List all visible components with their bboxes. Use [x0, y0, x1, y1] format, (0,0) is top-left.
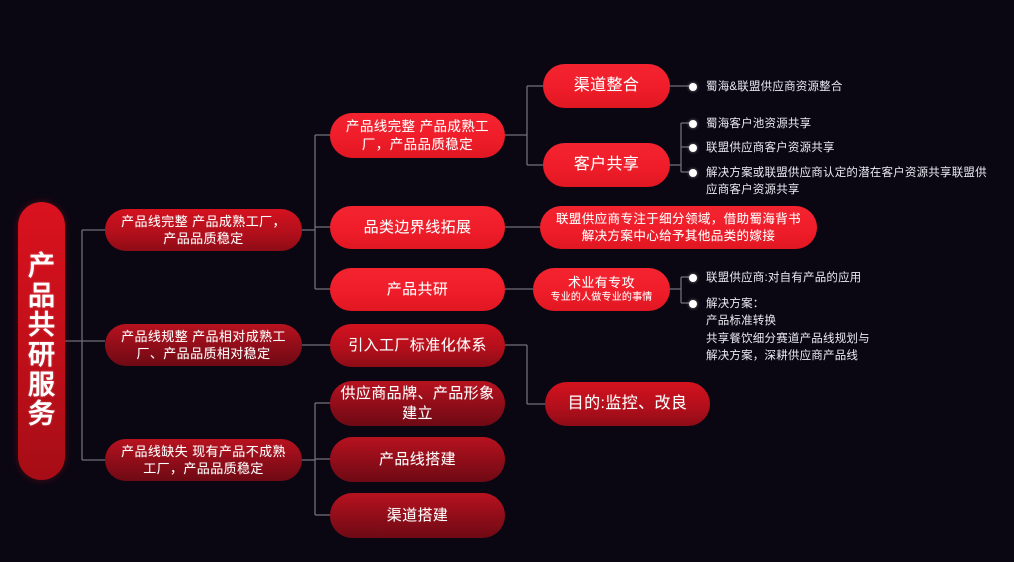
node-level1-2-label: 产品线缺失 现有产品不成熟工厂，产品品质稳定: [115, 443, 292, 477]
bullet-text: 联盟供应商客户资源共享: [706, 140, 835, 157]
bullet-specialization-0: 联盟供应商:对自有产品的应用: [689, 270, 1009, 287]
root-char-3: 研: [28, 342, 55, 370]
node-level1-2[interactable]: 产品线缺失 现有产品不成熟工厂，产品品质稳定: [105, 439, 302, 481]
node-level3-purpose[interactable]: 目的:监控、改良: [545, 382, 710, 426]
node-level2-2[interactable]: 产品共研: [330, 268, 505, 311]
node-level2-4-label: 供应商品牌、产品形象建立: [340, 384, 495, 424]
node-level3-4-label: 目的:监控、改良: [555, 393, 700, 414]
bullet-text: 蜀海&联盟供应商资源整合: [706, 79, 843, 96]
mindmap-canvas: 产 品 共 研 服 务 产品线完整 产品成熟工厂，产品品质稳定 产品线规整 产品…: [0, 0, 1014, 562]
node-level2-1-label: 品类边界线拓展: [340, 218, 495, 238]
root-title[interactable]: 产 品 共 研 服 务: [18, 202, 65, 480]
bullet-text: 联盟供应商:对自有产品的应用: [706, 270, 862, 287]
root-char-5: 务: [28, 401, 55, 429]
node-level2-6[interactable]: 渠道搭建: [330, 493, 505, 538]
node-level2-3[interactable]: 引入工厂标准化体系: [330, 324, 505, 367]
node-level3-3-label: 术业有专攻: [543, 274, 660, 291]
root-char-0: 产: [28, 253, 55, 281]
root-char-1: 品: [28, 283, 55, 311]
node-level2-5[interactable]: 产品线搭建: [330, 437, 505, 482]
node-level1-0-label: 产品线完整 产品成熟工厂，产品品质稳定: [115, 213, 292, 247]
bullet-dot-icon: [689, 144, 697, 152]
root-char-4: 服: [28, 372, 55, 400]
node-level1-0[interactable]: 产品线完整 产品成熟工厂，产品品质稳定: [105, 209, 302, 251]
bullet-customer-share-1: 联盟供应商客户资源共享: [689, 140, 1009, 157]
node-level3-3-sublabel: 专业的人做专业的事情: [543, 291, 660, 304]
bullet-text: 蜀海客户池资源共享: [706, 116, 811, 133]
node-level3-1-label: 客户共享: [553, 154, 660, 175]
node-level3-category-expansion[interactable]: 联盟供应商专注于细分领域，借助蜀海背书解决方案中心给予其他品类的嫁接: [540, 206, 817, 249]
bullet-dot-icon: [689, 169, 697, 177]
bullet-customer-share-0: 蜀海客户池资源共享: [689, 116, 1009, 133]
node-level3-2-label: 联盟供应商专注于细分领域，借助蜀海背书解决方案中心给予其他品类的嫁接: [550, 211, 807, 244]
node-level2-2-label: 产品共研: [340, 280, 495, 300]
node-level2-0[interactable]: 产品线完整 产品成熟工厂，产品品质稳定: [330, 113, 505, 158]
bullet-text: 解决方案或联盟供应商认定的潜在客户资源共享联盟供 应商客户资源共享: [706, 165, 987, 200]
bullet-dot-icon: [689, 274, 697, 282]
bullet-dot-icon: [689, 120, 697, 128]
node-level2-0-label: 产品线完整 产品成熟工厂，产品品质稳定: [340, 118, 495, 154]
node-level3-specialization[interactable]: 术业有专攻 专业的人做专业的事情: [533, 268, 670, 311]
node-level2-5-label: 产品线搭建: [340, 450, 495, 470]
node-level1-1[interactable]: 产品线规整 产品相对成熟工厂、产品品质相对稳定: [105, 324, 302, 366]
node-level3-0-label: 渠道整合: [553, 75, 660, 96]
bullet-customer-share-2: 解决方案或联盟供应商认定的潜在客户资源共享联盟供 应商客户资源共享: [689, 165, 1014, 200]
bullet-channel-integration-0: 蜀海&联盟供应商资源整合: [689, 79, 1009, 96]
node-level3-channel-integration[interactable]: 渠道整合: [543, 64, 670, 108]
bullet-dot-icon: [689, 83, 697, 91]
node-level1-1-label: 产品线规整 产品相对成熟工厂、产品品质相对稳定: [115, 328, 292, 362]
node-level2-6-label: 渠道搭建: [340, 506, 495, 526]
bullet-specialization-1: 解决方案： 产品标准转换 共享餐饮细分赛道产品线规划与 解决方案，深耕供应商产品…: [689, 296, 1009, 365]
root-char-2: 共: [28, 312, 55, 340]
node-level2-4[interactable]: 供应商品牌、产品形象建立: [330, 381, 505, 426]
bullet-text: 解决方案： 产品标准转换 共享餐饮细分赛道产品线规划与 解决方案，深耕供应商产品…: [706, 296, 870, 365]
node-level2-3-label: 引入工厂标准化体系: [340, 336, 495, 356]
bullet-dot-icon: [689, 300, 697, 308]
node-level2-1[interactable]: 品类边界线拓展: [330, 206, 505, 249]
node-level3-customer-share[interactable]: 客户共享: [543, 143, 670, 187]
